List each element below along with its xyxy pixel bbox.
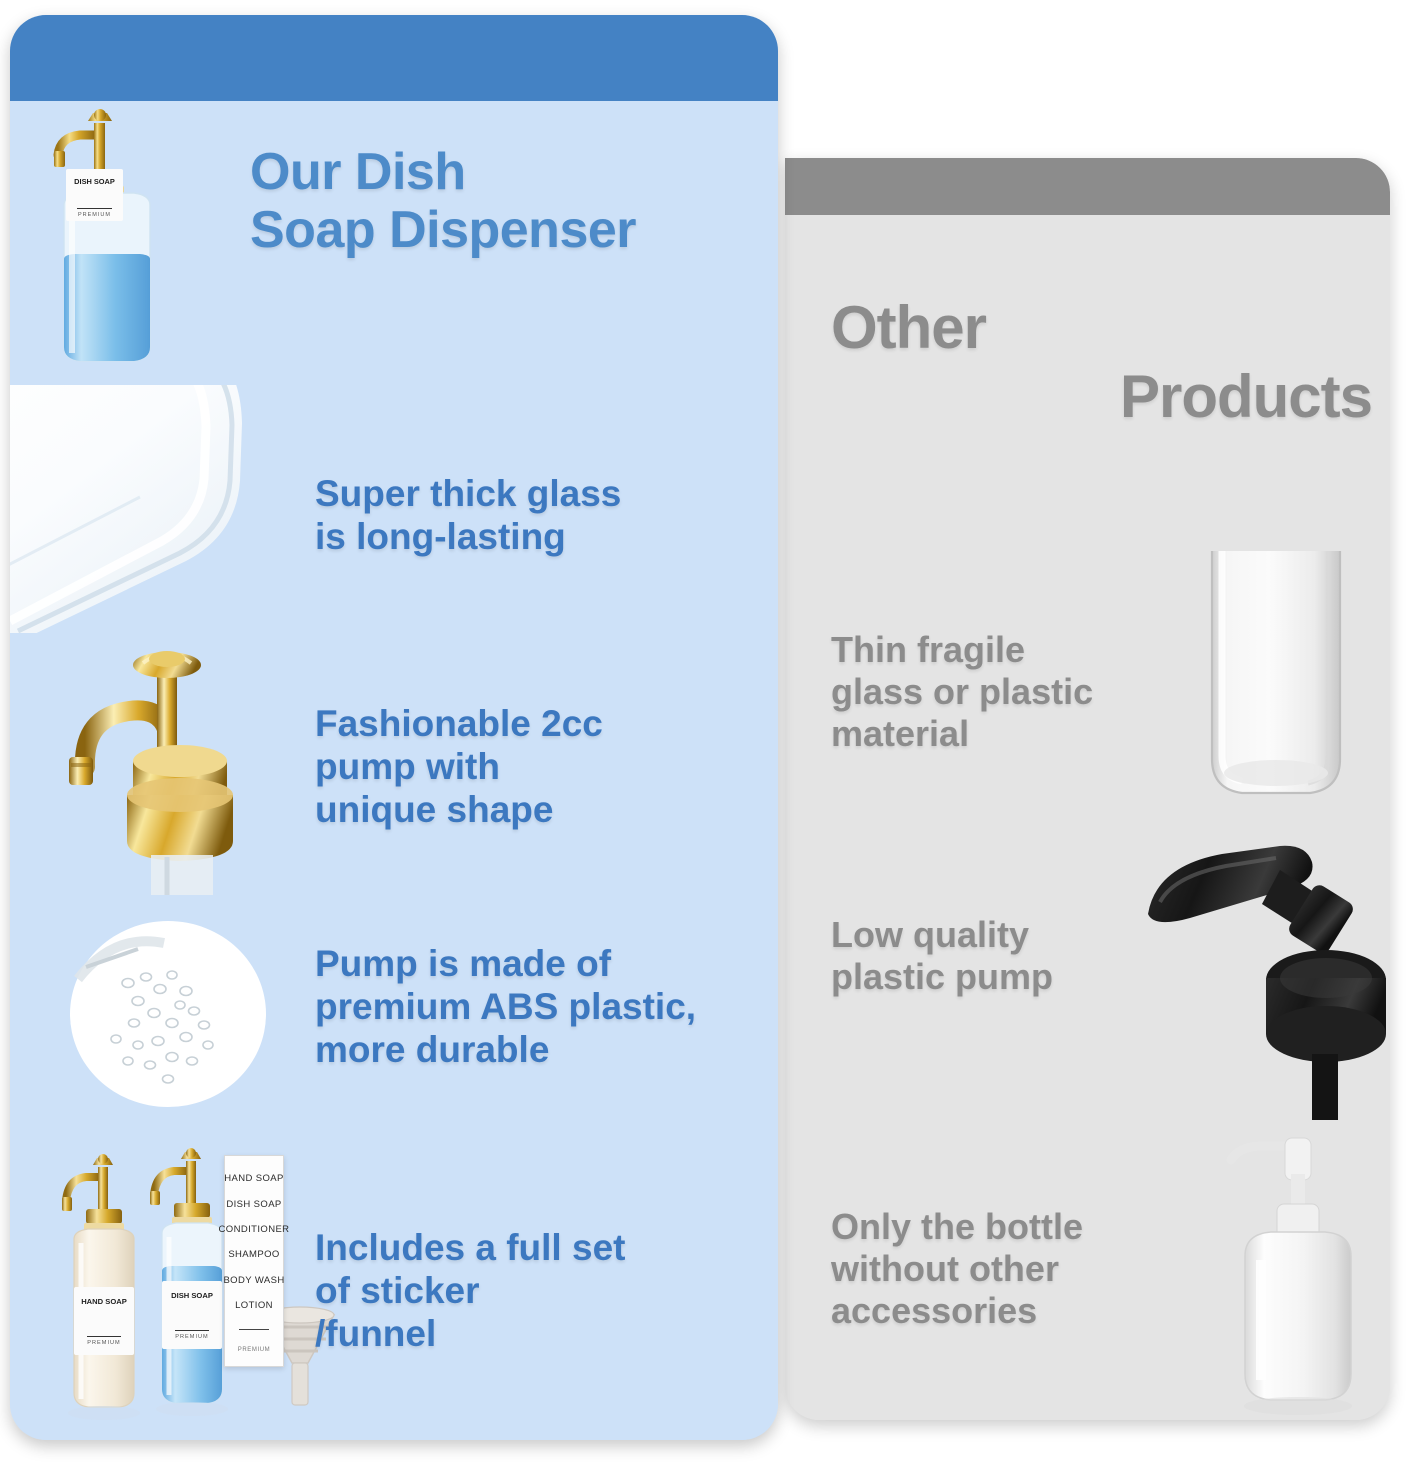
sticker-sheet-footer: PREMIUM (238, 1347, 271, 1353)
dish-soap-bottle-label: DISH SOAP PREMIUM (162, 1281, 222, 1349)
thick-glass-bottle-photo (10, 385, 280, 633)
other-title-line2: Products (831, 362, 1376, 431)
hero-dish-soap-bottle-photo: DISH SOAP PREMIUM (40, 109, 190, 371)
feature-row-thick-glass: Super thick glass is long-lasting (10, 385, 778, 633)
sticker-label-conditioner: CONDITIONER (219, 1224, 290, 1235)
sticker-label-dish-soap: DISH SOAP (226, 1199, 281, 1210)
thin-glass-jar-photo (1170, 551, 1385, 836)
drawback-text-plain-bottle: Only the bottle without other accessorie… (831, 1206, 1211, 1331)
our-product-card: Our Dish Soap Dispenser (10, 15, 778, 1440)
hero-bottle-label: DISH SOAP PREMIUM (66, 169, 123, 221)
other-title-line1: Other (831, 294, 986, 361)
feature-row-pump: Fashionable 2cc pump with unique shape (10, 645, 778, 897)
good-title-line1: Our Dish (250, 143, 466, 201)
hero-bottle-label-sub: PREMIUM (78, 212, 111, 218)
feature-row-sticker-funnel: HAND SOAP PREMIUM DISH SOAP PREMIUM HAND… (10, 1127, 778, 1440)
feature-text-sticker-funnel: Includes a full set of sticker /funnel (315, 1227, 755, 1356)
feature-text-abs-plastic: Pump is made of premium ABS plastic, mor… (315, 943, 778, 1072)
drawback-text-plastic-pump: Low quality plastic pump (831, 914, 1171, 998)
hand-soap-bottle-label: HAND SOAP PREMIUM (74, 1287, 134, 1355)
feature-row-abs-plastic: Pump is made of premium ABS plastic, mor… (10, 909, 778, 1114)
black-plastic-pump-photo (1130, 832, 1390, 1120)
sticker-label-shampoo: SHAMPOO (228, 1249, 279, 1260)
hero-bottle-label-name: DISH SOAP (74, 177, 115, 186)
drawback-row-thin-glass: Thin fragile glass or plastic material (785, 551, 1390, 836)
good-card-header-band (10, 15, 778, 101)
other-card-header-band (785, 158, 1390, 215)
gold-pump-photo (55, 645, 305, 897)
other-products-title: Other Products (831, 293, 1376, 431)
our-product-title: Our Dish Soap Dispenser (250, 143, 770, 259)
sticker-label-hand-soap: HAND SOAP (224, 1173, 284, 1184)
drawback-row-plain-bottle: Only the bottle without other accessorie… (785, 1124, 1390, 1420)
feature-text-pump: Fashionable 2cc pump with unique shape (315, 703, 745, 832)
sticker-sheet: HAND SOAP DISH SOAP CONDITIONER SHAMPOO … (224, 1155, 284, 1367)
hand-soap-label-name: HAND SOAP (81, 1297, 127, 1306)
label-rule (77, 208, 112, 209)
feature-text-thick-glass: Super thick glass is long-lasting (315, 473, 745, 559)
sticker-sheet-rule (239, 1329, 269, 1330)
label-rule (87, 1336, 122, 1337)
plain-white-bottle-photo (1205, 1130, 1385, 1420)
dish-soap-label-name: DISH SOAP (171, 1291, 213, 1300)
other-products-card: Other Products Thin fragile glass or pla… (785, 158, 1390, 1420)
sticker-label-lotion: LOTION (235, 1300, 273, 1311)
good-title-line2: Soap Dispenser (250, 201, 636, 259)
drawback-text-thin-glass: Thin fragile glass or plastic material (831, 629, 1191, 754)
sticker-label-body-wash: BODY WASH (223, 1275, 284, 1286)
abs-plastic-pellets-photo (68, 919, 268, 1109)
two-bottles-stickers-funnel-photo: HAND SOAP PREMIUM DISH SOAP PREMIUM HAND… (58, 1137, 358, 1427)
hand-soap-label-sub: PREMIUM (87, 1340, 120, 1346)
dish-soap-label-sub: PREMIUM (175, 1334, 208, 1340)
drawback-row-plastic-pump: Low quality plastic pump (785, 844, 1390, 1116)
label-rule (175, 1330, 210, 1331)
